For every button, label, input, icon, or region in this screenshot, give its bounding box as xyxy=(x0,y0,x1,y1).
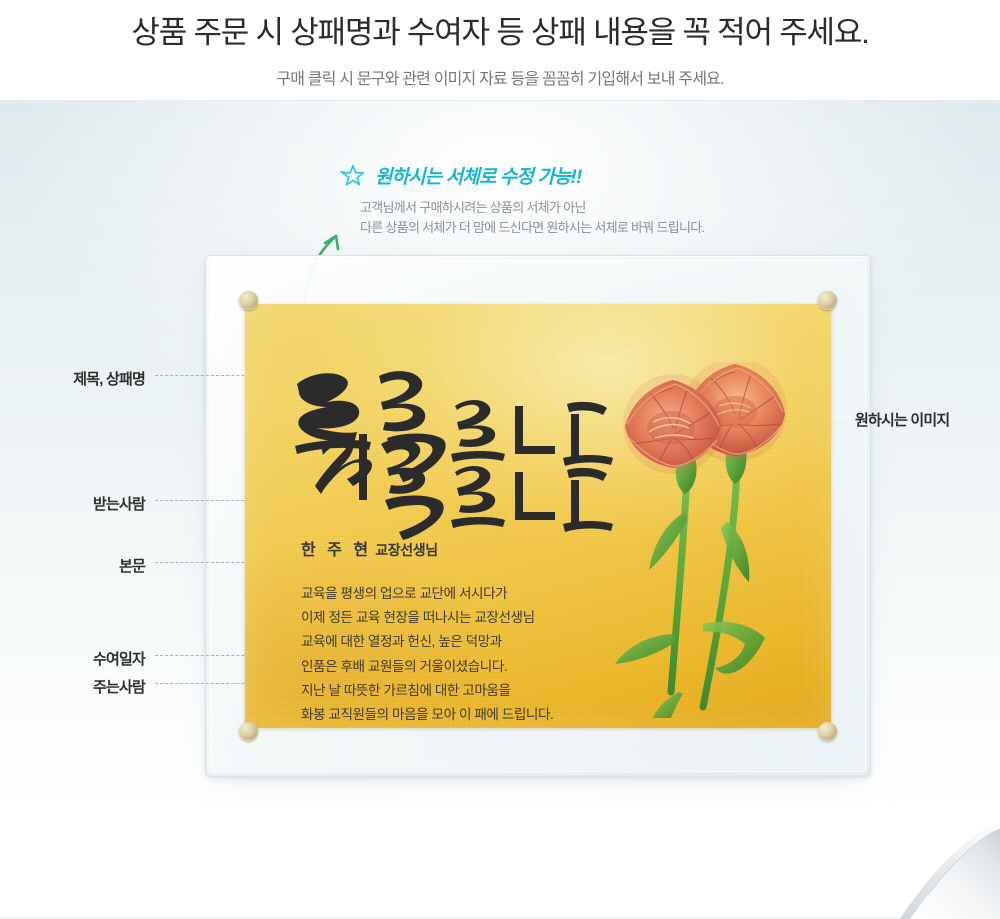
calligraphy-strokes xyxy=(287,362,617,512)
plaque-stud-top-right xyxy=(818,291,837,310)
annotation-giver: 주는사람 xyxy=(40,676,145,697)
annotation-title: 제목, 상패명 xyxy=(40,368,145,389)
plaque-calligraphy-title xyxy=(287,362,617,512)
callout-line-1: 고객님께서 구매하시려는 상품의 서체가 아닌 xyxy=(360,198,756,218)
plaque-gold-card: 한 주 현 교장선생님 교육을 평생의 업으로 교단에 서시다가 이제 정든 교… xyxy=(245,304,831,728)
plaque-stud-top-left xyxy=(239,291,258,310)
page-title: 상품 주문 시 상패명과 수여자 등 상패 내용을 꼭 적어 주세요. xyxy=(0,14,1000,53)
annotation-body: 본문 xyxy=(40,555,145,576)
plaque-recipient-name: 한 주 현 xyxy=(301,542,372,559)
plaque-product: 한 주 현 교장선생님 교육을 평생의 업으로 교단에 서시다가 이제 정든 교… xyxy=(205,255,871,777)
star-icon xyxy=(340,163,366,189)
plaque-recipient-role: 교장선생님 xyxy=(375,542,437,558)
page-subtitle: 구매 클릭 시 문구와 관련 이미지 자료 등을 꼼꼼히 기입해서 보내 주세요… xyxy=(0,65,1000,89)
annotation-image: 원하시는 이미지 xyxy=(855,409,949,430)
plaque-stud-bottom-left xyxy=(239,722,258,741)
callout-line-2: 다른 상품의 서체가 더 맘에 드신다면 원하시는 서체로 바꿔 드립니다. xyxy=(360,218,756,238)
callout-heading: 원하시는 서체로 수정 가능!! xyxy=(340,162,756,189)
annotation-recipient: 받는사람 xyxy=(40,493,145,514)
page-curl-corner xyxy=(888,807,1000,919)
annotation-date: 수여일자 xyxy=(40,648,145,669)
callout-title: 원하시는 서체로 수정 가능!! xyxy=(375,162,581,189)
font-change-callout: 원하시는 서체로 수정 가능!! 고객님께서 구매하시려는 상품의 서체가 아닌… xyxy=(336,162,756,238)
stage-divider xyxy=(0,100,1000,101)
carnation-flowers-image xyxy=(575,362,825,718)
product-image-stage: 원하시는 서체로 수정 가능!! 고객님께서 구매하시려는 상품의 서체가 아닌… xyxy=(0,100,1000,919)
page-header: 상품 주문 시 상패명과 수여자 등 상패 내용을 꼭 적어 주세요. 구매 클… xyxy=(0,0,1000,100)
plaque-stud-bottom-right xyxy=(818,722,837,741)
carnation-illustration xyxy=(575,362,825,718)
